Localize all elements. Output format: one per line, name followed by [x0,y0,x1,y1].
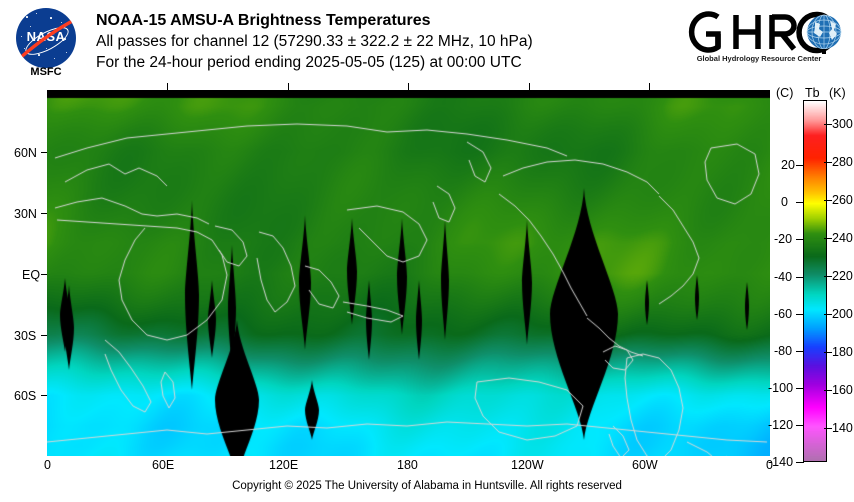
cb-kelvin-180: 180 [832,345,853,359]
copyright-notice: Copyright © 2025 The University of Alaba… [0,480,854,492]
x-tick-mark-top [408,83,409,90]
x-tick-mark-top [167,83,168,90]
ghrc-subtitle: Global Hydrology Resource Center [684,54,834,63]
cb-kelvin-280: 280 [832,155,853,169]
brightness-temperature-field [47,90,770,456]
title-block: NOAA-15 AMSU-A Brightness Temperatures A… [96,10,696,73]
cb-celsius--20: -20 [774,232,792,246]
x-tick-mark-top [288,83,289,90]
figure-root: NASA MSFC NOAA-15 AMSU-A Brightness Temp… [0,0,854,502]
cb-kelvin-200: 200 [832,307,853,321]
cb-tick-c [796,202,804,203]
cb-tick-k [824,200,832,201]
colorbar-header-kelvin: (K) [829,86,846,100]
y-tick-mark [41,213,47,214]
y-tick-30s: 30S [14,329,36,343]
x-tick-120e: 120E [269,458,298,472]
cb-tick-k [824,428,832,429]
cb-tick-k [824,276,832,277]
colorbar-gradient [803,100,827,462]
cb-kelvin-240: 240 [832,231,853,245]
cb-celsius--60: -60 [774,307,792,321]
cb-celsius--40: -40 [774,270,792,284]
cb-tick-c [796,388,804,389]
title-main: NOAA-15 AMSU-A Brightness Temperatures [96,10,696,31]
y-tick-30n: 30N [14,207,37,221]
y-tick-mark [41,152,47,153]
x-tick-0-left: 0 [44,458,51,472]
x-tick-60e: 60E [152,458,174,472]
cb-kelvin-160: 160 [832,383,853,397]
cb-celsius--120: -120 [768,418,793,432]
map-plot-area[interactable] [47,90,770,456]
title-period: For the 24-hour period ending 2025-05-05… [96,52,696,73]
x-tick-mark-top [529,83,530,90]
cb-tick-c [796,314,804,315]
cb-tick-k [824,352,832,353]
y-tick-60n: 60N [14,146,37,160]
cb-celsius-0: 0 [781,195,788,209]
cb-tick-c [796,425,804,426]
y-tick-mark [41,335,47,336]
cb-kelvin-260: 260 [832,193,853,207]
cb-celsius--100: -100 [768,381,793,395]
cb-tick-c [796,462,804,463]
cb-tick-k [824,162,832,163]
cb-tick-k [824,390,832,391]
y-tick-mark [41,395,47,396]
nasa-swoosh-icon [18,14,76,62]
x-tick-120w: 120W [511,458,544,472]
cb-tick-c [796,277,804,278]
cb-kelvin-220: 220 [832,269,853,283]
cb-celsius--80: -80 [774,344,792,358]
x-tick-180: 180 [397,458,418,472]
cb-tick-c [796,351,804,352]
cb-kelvin-300: 300 [832,117,853,131]
nasa-meatball-icon: NASA [16,8,76,68]
cb-tick-k [824,124,832,125]
x-tick-60w: 60W [632,458,658,472]
y-tick-60s: 60S [14,389,36,403]
title-channel: All passes for channel 12 (57290.33 ± 32… [96,31,696,52]
cb-tick-k [824,314,832,315]
x-tick-mark-top [649,83,650,90]
colorbar-header-variable: Tb [805,86,820,100]
colorbar-header-celsius: (C) [776,86,793,100]
y-tick-mark [41,274,47,275]
cb-celsius--140: -140 [768,455,793,469]
nasa-logo: NASA MSFC [10,8,82,80]
cb-tick-k [824,238,832,239]
cb-tick-c [796,239,804,240]
ghrc-letters-icon [684,8,848,56]
cb-tick-c [796,165,804,166]
ghrc-logo: Global Hydrology Resource Center [684,8,848,74]
cb-celsius-20: 20 [781,158,795,172]
nasa-center-label: MSFC [10,66,82,78]
y-tick-eq: EQ [22,268,40,282]
cb-kelvin-140: 140 [832,421,853,435]
